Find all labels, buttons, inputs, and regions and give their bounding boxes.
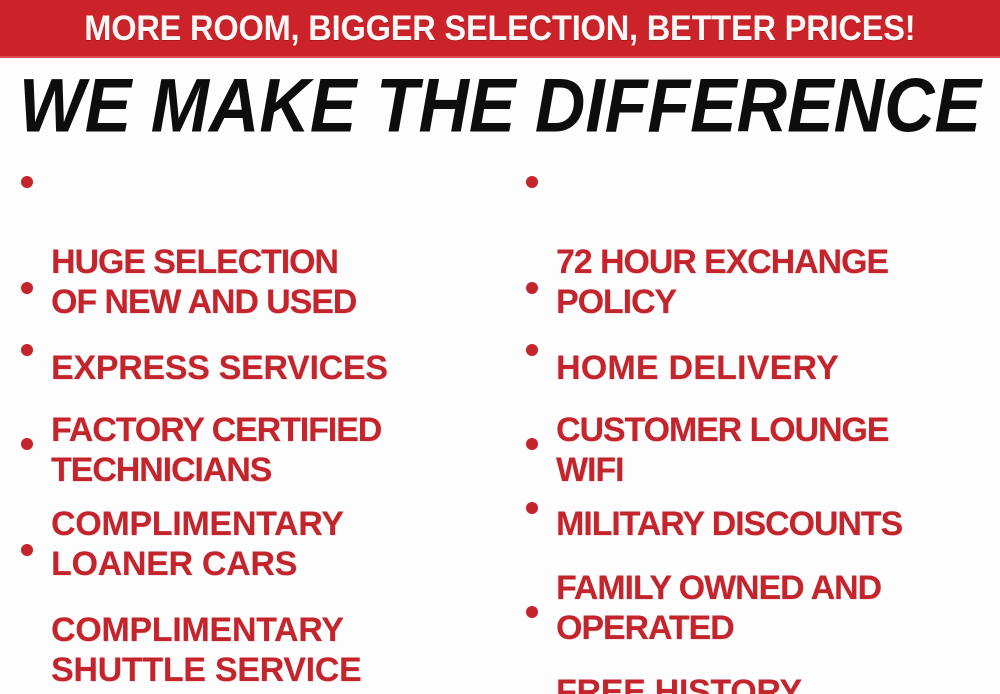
page-title: WE MAKE THE DIFFERENCE [19, 68, 981, 144]
benefits-column-right: 72 HOUR EXCHANGE POLICY HOME DELIVERY CU… [500, 152, 1000, 694]
bullet-dot-icon [526, 176, 538, 188]
bullet-dot-icon [21, 344, 33, 356]
bullet-dot-icon [526, 502, 538, 514]
bullet-dot-icon [526, 282, 538, 294]
top-banner: MORE ROOM, BIGGER SELECTION, BETTER PRIC… [0, 0, 1000, 58]
bullet-dot-icon [21, 282, 33, 294]
benefit-right-6-label: FREE HISTORY REPORTS [556, 673, 802, 694]
bullet-dot-icon [21, 438, 33, 450]
bullet-dot-icon [21, 176, 33, 188]
benefits-column-left: HUGE SELECTION OF NEW AND USED EXPRESS S… [0, 152, 500, 694]
bullet-dot-icon [526, 438, 538, 450]
benefits-columns: HUGE SELECTION OF NEW AND USED EXPRESS S… [0, 152, 1000, 694]
benefit-left-5: COMPLIMENTARY SHUTTLE SERVICE [0, 530, 500, 690]
list-item: COMPLIMENTARY SHUTTLE SERVICE [0, 530, 500, 690]
promo-poster: MORE ROOM, BIGGER SELECTION, BETTER PRIC… [0, 0, 1000, 694]
bullet-dot-icon [526, 606, 538, 618]
headline-container: WE MAKE THE DIFFERENCE [0, 62, 1000, 150]
benefit-left-5-label: COMPLIMENTARY SHUTTLE SERVICE [51, 611, 361, 689]
bullet-dot-icon [21, 544, 33, 556]
banner-headline-text: MORE ROOM, BIGGER SELECTION, BETTER PRIC… [84, 11, 915, 46]
list-item: FREE HISTORY REPORTS [500, 592, 1000, 694]
bullet-dot-icon [526, 344, 538, 356]
benefit-right-6: FREE HISTORY REPORTS [500, 592, 1000, 694]
